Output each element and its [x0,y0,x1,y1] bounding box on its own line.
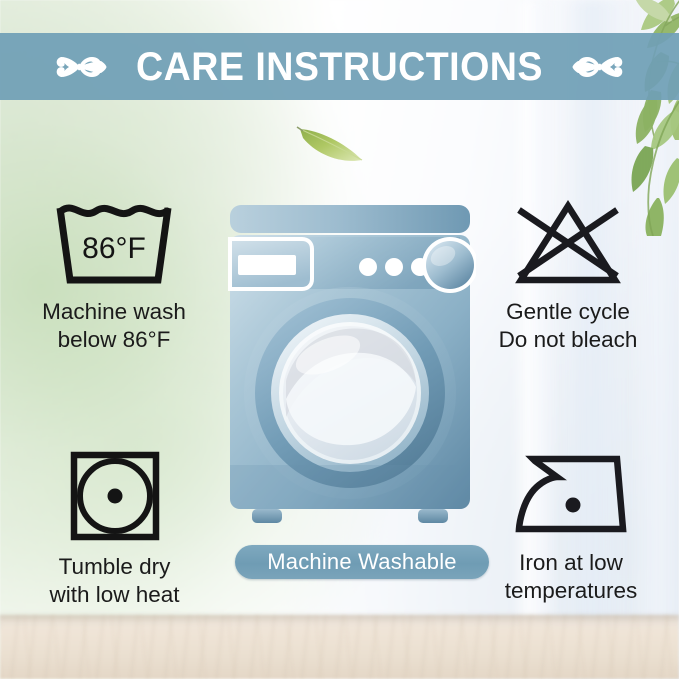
fleur-de-lis-icon [55,47,107,87]
caption-line-1: Tumble dry [49,553,179,581]
care-symbol-do-not-bleach: Gentle cycle Do not bleach [462,196,674,354]
machine-washable-label: Machine Washable [267,551,456,573]
caption-line-1: Machine wash [42,298,186,326]
caption-line-2: with low heat [49,581,179,609]
caption-tumble-dry: Tumble dry with low heat [49,553,179,609]
caption-line-2: temperatures [505,577,638,605]
caption-machine-wash: Machine wash below 86°F [42,298,186,354]
floating-leaf-icon [296,118,370,168]
caption-do-not-bleach: Gentle cycle Do not bleach [499,298,638,354]
indicator-light [385,258,403,276]
caption-line-2: below 86°F [42,326,186,354]
care-symbol-iron: Iron at low temperatures [468,447,674,605]
tumble-dry-low-heat-icon [66,447,164,545]
machine-washable-badge: Machine Washable [235,545,489,579]
care-symbol-machine-wash: 86°F Machine wash below 86°F [8,196,220,354]
washing-machine-icon [224,203,476,540]
washer-foot [252,509,282,523]
care-instructions-poster: CARE INSTRUCTIONS 86°F Machine wash belo… [0,0,679,679]
caption-iron: Iron at low temperatures [505,549,638,605]
wash-tub-icon: 86°F [52,196,176,290]
header-banner: CARE INSTRUCTIONS [0,33,679,100]
wash-temperature-label: 86°F [82,232,146,265]
washer-foot [418,509,448,523]
page-title: CARE INSTRUCTIONS [136,47,543,87]
caption-line-1: Iron at low [505,549,638,577]
iron-low-temperature-icon [509,447,633,541]
triangle-crossed-out-icon [509,196,627,290]
care-symbol-tumble-dry: Tumble dry with low heat [12,447,217,609]
fleur-de-lis-icon [572,47,624,87]
caption-line-1: Gentle cycle [499,298,638,326]
background-wood-table [0,615,679,679]
indicator-light [359,258,377,276]
caption-line-2: Do not bleach [499,326,638,354]
